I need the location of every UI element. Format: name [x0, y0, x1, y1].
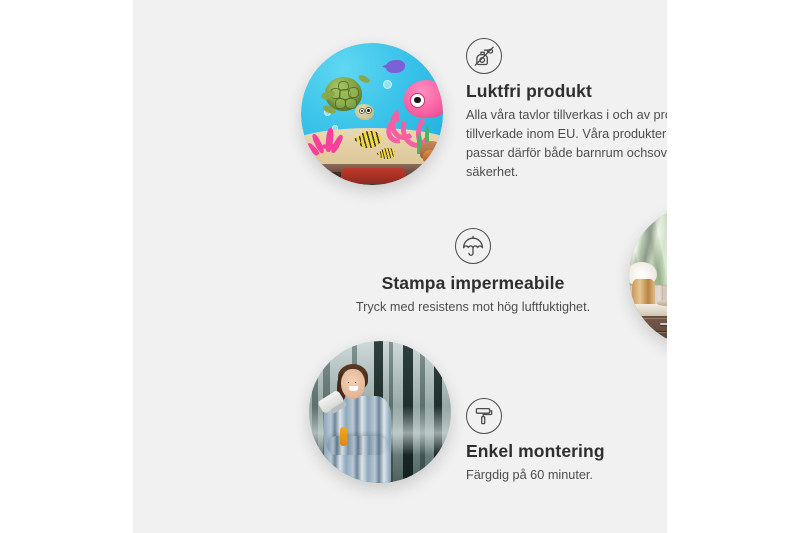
banner-stage: Luktfri produkt Alla våra tavlor tillver… [0, 0, 800, 533]
pink-coral [310, 125, 353, 162]
pink-octopus [386, 80, 443, 148]
feature-title: Stampa impermeabile [273, 273, 667, 294]
sea-turtle [321, 74, 375, 122]
feature-assembly: Enkel montering Färgdig på 60 minuter. [466, 398, 667, 485]
feature-banner-panel: Luktfri produkt Alla våra tavlor tillver… [133, 0, 667, 533]
sea-rock [423, 150, 437, 163]
roller-grip [340, 427, 347, 446]
face [341, 369, 365, 399]
wooden-vanity-cabinet [640, 316, 667, 347]
purple-fish [386, 60, 404, 73]
feature-text: Färgdig på 60 minuter. [466, 466, 667, 485]
paint-roller-icon [466, 398, 502, 434]
feature-waterproof: Stampa impermeabile Tryck med resistens … [273, 228, 667, 317]
yellow-striped-fish [358, 131, 381, 148]
room-furniture-red [341, 168, 406, 184]
ocean-cartoon-mural-thumbnail[interactable] [301, 43, 443, 185]
feature-title: Luktfri produkt [466, 81, 667, 102]
drawer-handle [660, 338, 667, 339]
feature-text: Tryck med resistens mot hög luftfuktighe… [273, 298, 667, 317]
smile [349, 386, 359, 391]
turtle-head [355, 104, 373, 119]
umbrella-icon [455, 228, 491, 264]
drawer-handle [660, 323, 667, 324]
no-fragrance-icon [466, 38, 502, 74]
feature-title: Enkel montering [466, 441, 667, 462]
installer-forest-mural-thumbnail[interactable] [309, 341, 451, 483]
feature-text: Alla våra tavlor tillverkas i och av pro… [466, 106, 667, 182]
woman-with-paint-roller [318, 367, 398, 483]
folded-arms [327, 436, 387, 455]
feature-odourless: Luktfri produkt Alla våra tavlor tillver… [466, 38, 667, 182]
